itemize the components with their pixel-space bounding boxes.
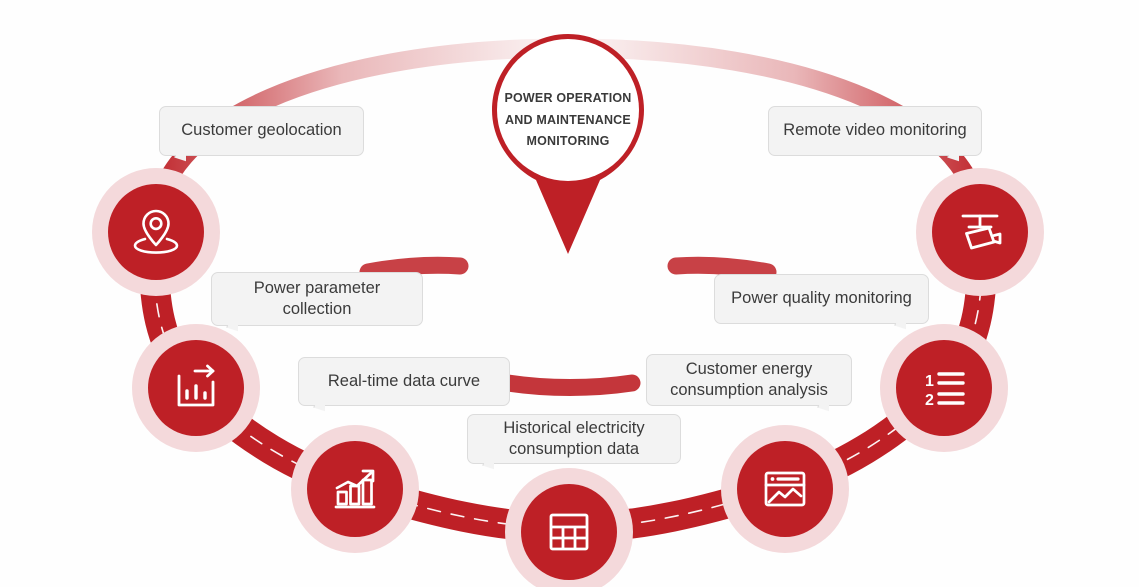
label-remote-video-monitoring[interactable]: Remote video monitoring [768,106,982,156]
svg-text:1: 1 [925,373,934,390]
label-customer-geolocation-text: Customer geolocation [181,120,342,141]
svg-text:2: 2 [925,392,934,409]
label-customer-energy-consumption-analysis-line-2: consumption analysis [670,380,828,401]
label-historical-electricity-consumption-data-line-1: Historical electricity [503,418,644,439]
node-historical-electricity-consumption-data[interactable] [521,484,617,580]
node-power-parameter-collection[interactable] [148,340,244,436]
cctv-camera-icon [953,205,1007,259]
label-customer-energy-consumption-analysis[interactable]: Customer energy consumption analysis [646,354,852,406]
map-pin-icon [129,205,183,259]
label-tail [947,155,959,171]
label-power-parameter-collection-line-2: collection [283,299,352,320]
window-chart-icon [759,463,811,515]
road-stub-center [508,383,632,388]
center-pin: POWER OPERATION AND MAINTENANCE MONITORI… [482,28,654,260]
center-pin-title-line-3: MONITORING [482,131,654,153]
road-stub-left [368,265,460,272]
label-tail [174,155,186,171]
label-real-time-data-curve[interactable]: Real-time data curve [298,357,510,406]
label-power-quality-monitoring-text: Power quality monitoring [731,288,912,309]
label-remote-video-monitoring-text: Remote video monitoring [783,120,966,141]
road-stub-right [676,265,768,272]
label-historical-electricity-consumption-data-line-2: consumption data [509,439,639,460]
bar-chart-arrow-icon [171,363,221,413]
label-power-parameter-collection[interactable]: Power parameter collection [211,272,423,326]
table-icon [544,507,594,557]
growth-chart-icon [329,463,381,515]
node-customer-geolocation[interactable] [108,184,204,280]
node-remote-video-monitoring[interactable] [932,184,1028,280]
center-pin-title-line-1: POWER OPERATION [482,88,654,110]
label-tail [226,325,238,341]
label-real-time-data-curve-text: Real-time data curve [328,371,480,392]
label-tail [817,405,829,421]
diagram-canvas: POWER OPERATION AND MAINTENANCE MONITORI… [0,0,1139,587]
node-customer-energy-consumption-analysis[interactable] [737,441,833,537]
center-pin-title: POWER OPERATION AND MAINTENANCE MONITORI… [482,88,654,153]
label-customer-energy-consumption-analysis-line-1: Customer energy [686,359,813,380]
center-pin-title-line-2: AND MAINTENANCE [482,110,654,132]
label-historical-electricity-consumption-data[interactable]: Historical electricity consumption data [467,414,681,464]
label-customer-geolocation[interactable]: Customer geolocation [159,106,364,156]
node-real-time-data-curve[interactable] [307,441,403,537]
numbered-list-icon: 1 2 [919,363,969,413]
label-tail [894,323,906,339]
label-power-parameter-collection-line-1: Power parameter [254,278,381,299]
label-tail [482,463,494,479]
node-power-quality-monitoring[interactable]: 1 2 [896,340,992,436]
label-power-quality-monitoring[interactable]: Power quality monitoring [714,274,929,324]
label-tail [313,405,325,421]
